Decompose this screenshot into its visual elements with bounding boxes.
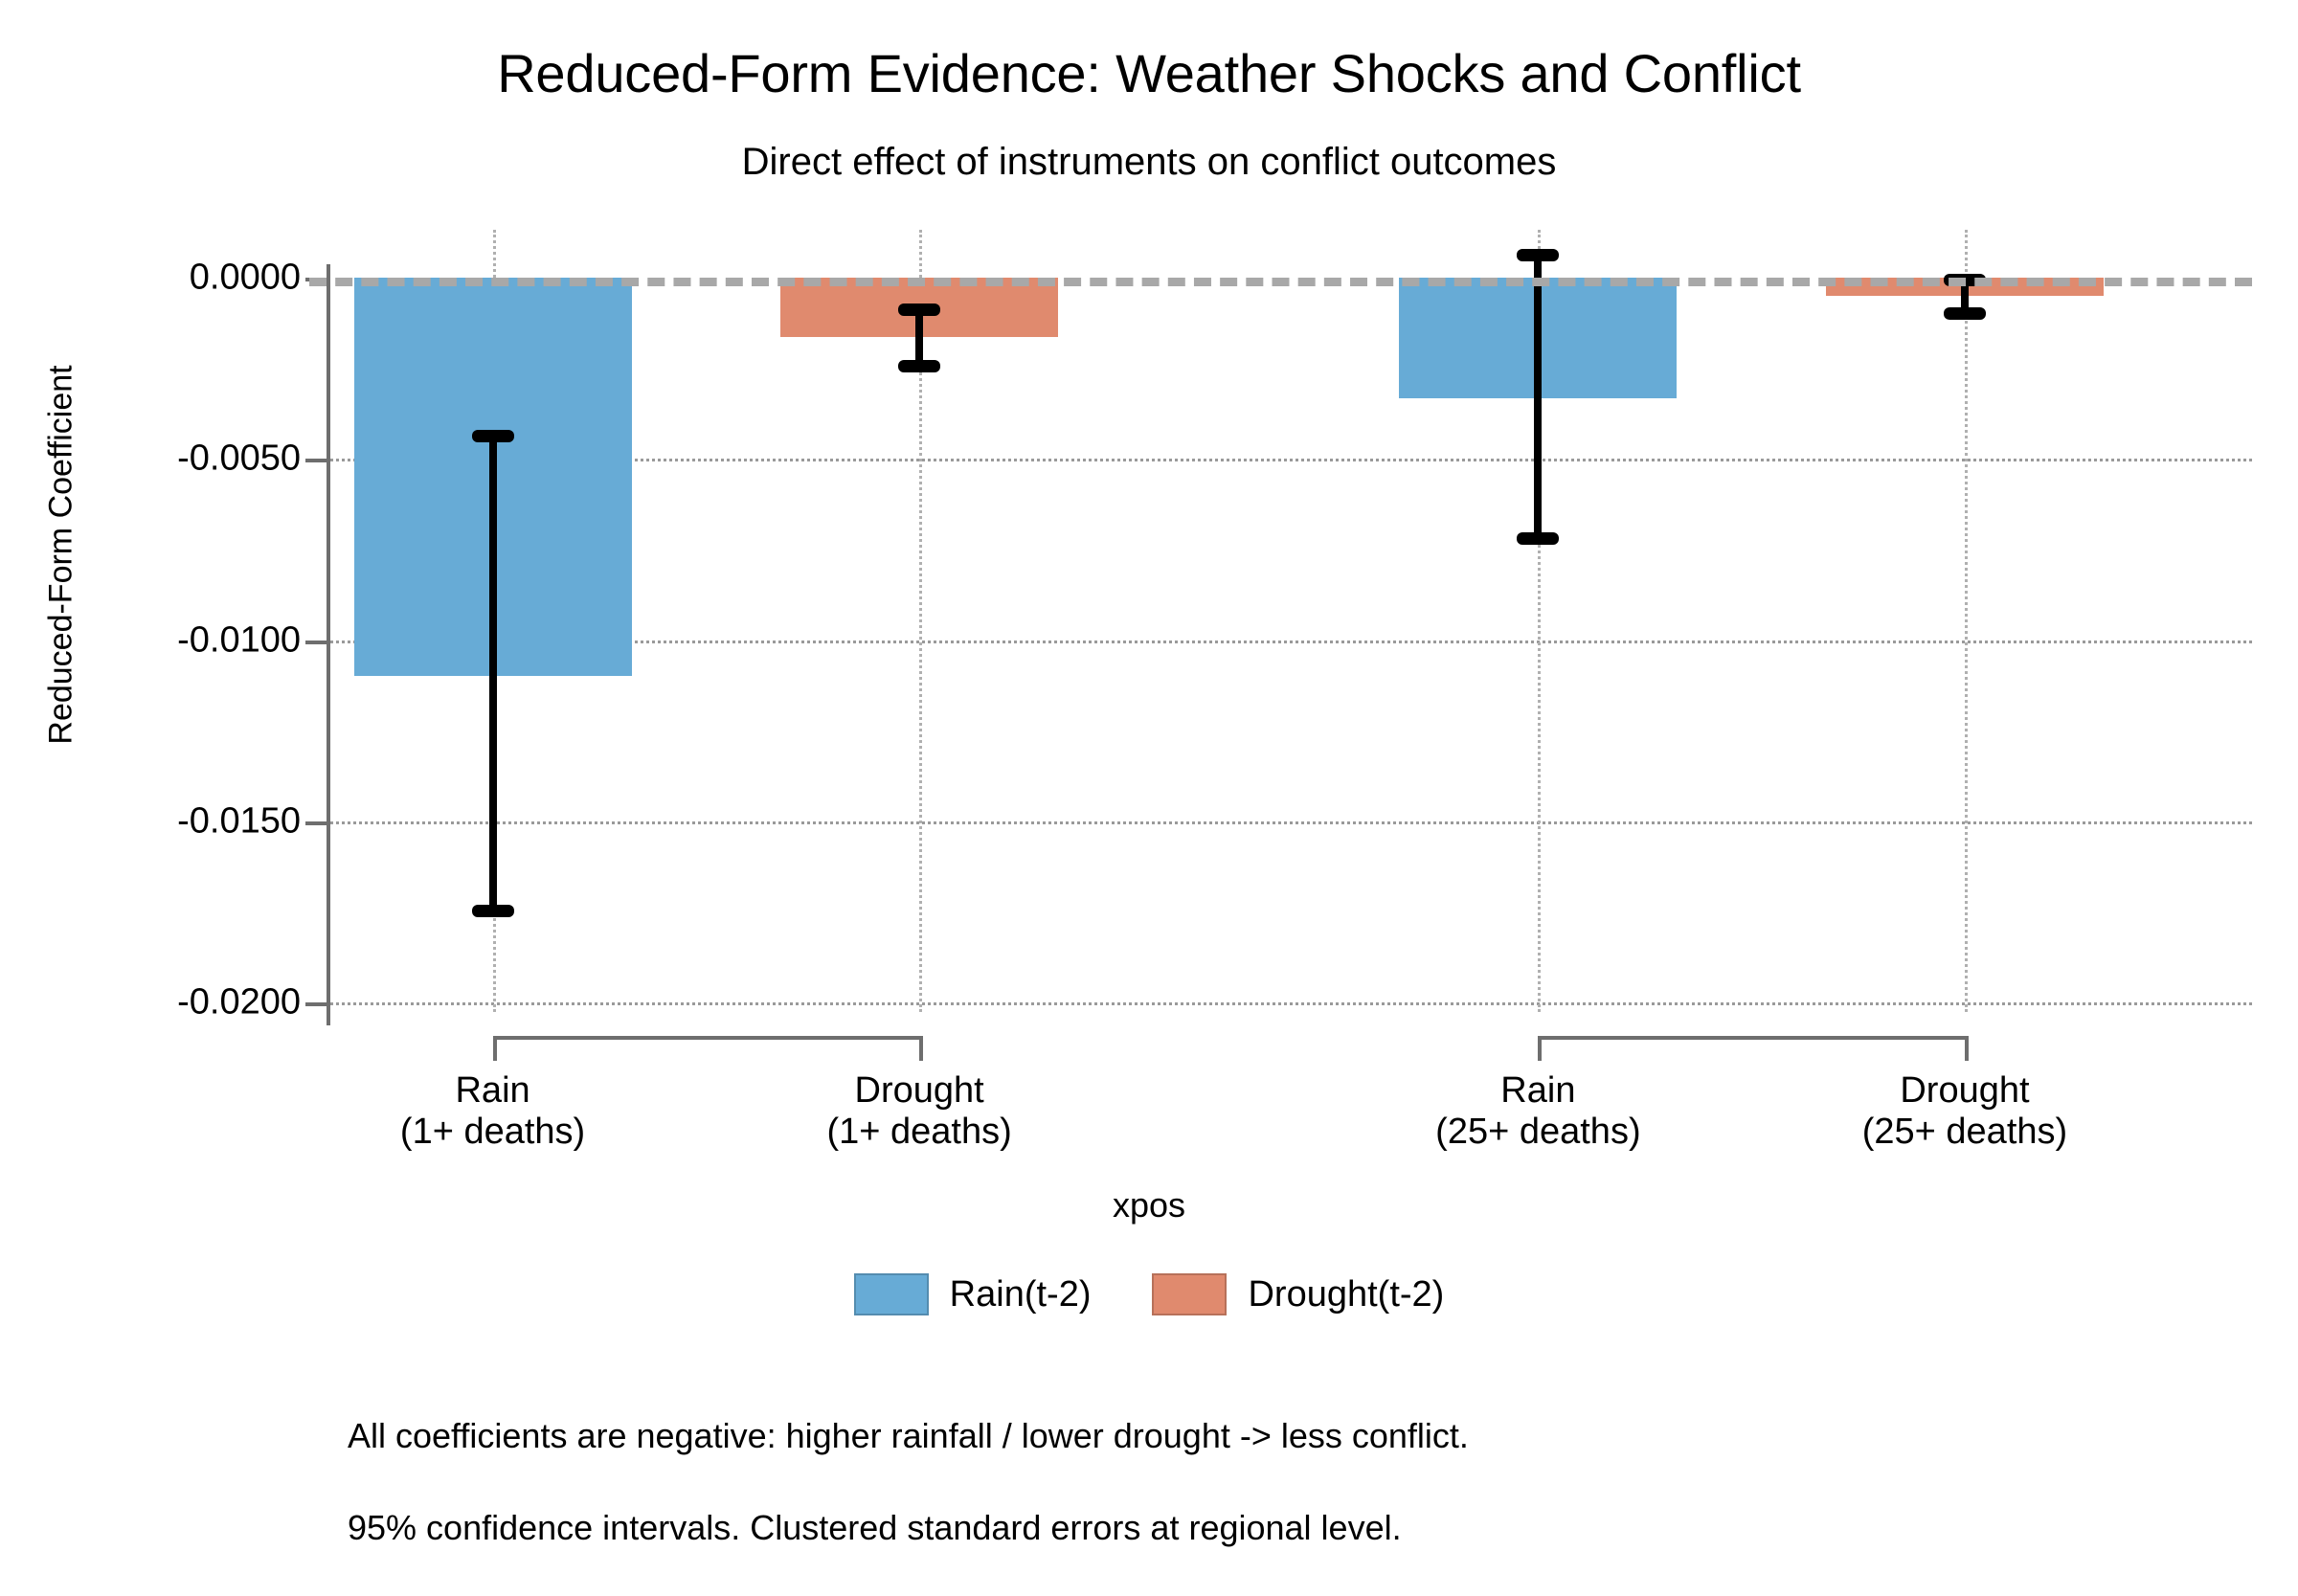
y-axis-title: Reduced-Form Coefficient (43, 220, 80, 890)
errorbar-cap-lower-2 (1517, 532, 1559, 545)
errorbar-cap-lower-1 (898, 360, 940, 372)
legend-swatch-1 (1152, 1273, 1227, 1315)
errorbar-line-0 (489, 436, 497, 912)
legend-label-0: Rain(t-2) (950, 1274, 1092, 1315)
zero-reference-line (309, 278, 2252, 286)
plot-area (330, 230, 2252, 1012)
x-tick-label-3-line-0: Drought (1862, 1070, 2067, 1112)
vertical-gridline-3 (1965, 230, 1968, 1012)
x-tick-1 (919, 1036, 923, 1061)
x-tick-label-3-line-1: (25+ deaths) (1862, 1112, 2067, 1153)
legend-label-1: Drought(t-2) (1248, 1274, 1444, 1315)
y-tick-3 (305, 821, 327, 825)
legend-item-0[interactable]: Rain(t-2) (854, 1273, 1092, 1315)
legend-swatch-0 (854, 1273, 929, 1315)
chart-legend: Rain(t-2)Drought(t-2) (0, 1273, 2298, 1315)
chart-footnote: All coefficients are negative: higher ra… (348, 1367, 1469, 1596)
errorbar-cap-upper-1 (898, 303, 940, 316)
y-tick-label-4: -0.0200 (177, 982, 301, 1023)
x-tick-3 (1965, 1036, 1969, 1061)
errorbar-cap-lower-3 (1944, 307, 1986, 320)
gridline--0.0200 (330, 1002, 2252, 1005)
x-tick-label-2-line-1: (25+ deaths) (1435, 1112, 1640, 1153)
y-tick-4 (305, 1002, 327, 1006)
x-tick-0 (493, 1036, 497, 1061)
y-tick-1 (305, 459, 327, 462)
errorbar-cap-upper-2 (1517, 249, 1559, 261)
legend-item-1[interactable]: Drought(t-2) (1152, 1273, 1444, 1315)
x-tick-label-0: Rain(1+ deaths) (400, 1070, 585, 1152)
chart-figure: Reduced-Form Evidence: Weather Shocks an… (0, 0, 2298, 1532)
chart-title: Reduced-Form Evidence: Weather Shocks an… (0, 46, 2298, 102)
x-tick-label-0-line-1: (1+ deaths) (400, 1112, 585, 1153)
x-tick-label-2-line-0: Rain (1435, 1070, 1640, 1112)
x-tick-label-1-line-0: Drought (826, 1070, 1011, 1112)
x-axis-title: xpos (0, 1185, 2298, 1225)
x-tick-label-0-line-0: Rain (400, 1070, 585, 1112)
x-tick-label-3: Drought(25+ deaths) (1862, 1070, 2067, 1152)
footnote-line-2: 95% confidence intervals. Clustered stan… (348, 1505, 1469, 1551)
x-axis-group-rule-1 (1538, 1036, 1965, 1040)
errorbar-line-2 (1534, 255, 1542, 539)
y-tick-label-2: -0.0100 (177, 619, 301, 661)
errorbar-line-1 (915, 309, 923, 366)
x-tick-label-2: Rain(25+ deaths) (1435, 1070, 1640, 1152)
y-tick-label-3: -0.0150 (177, 800, 301, 842)
errorbar-cap-lower-0 (472, 905, 514, 917)
chart-subtitle: Direct effect of instruments on conflict… (0, 142, 2298, 182)
x-tick-2 (1538, 1036, 1542, 1061)
x-axis-group-rule-0 (493, 1036, 920, 1040)
y-tick-2 (305, 641, 327, 644)
y-tick-label-0: 0.0000 (190, 258, 301, 299)
y-tick-label-1: -0.0050 (177, 438, 301, 480)
x-tick-label-1-line-1: (1+ deaths) (826, 1112, 1011, 1153)
x-tick-label-1: Drought(1+ deaths) (826, 1070, 1011, 1152)
gridline--0.0150 (330, 821, 2252, 824)
errorbar-cap-upper-0 (472, 430, 514, 442)
footnote-line-1: All coefficients are negative: higher ra… (348, 1413, 1469, 1459)
